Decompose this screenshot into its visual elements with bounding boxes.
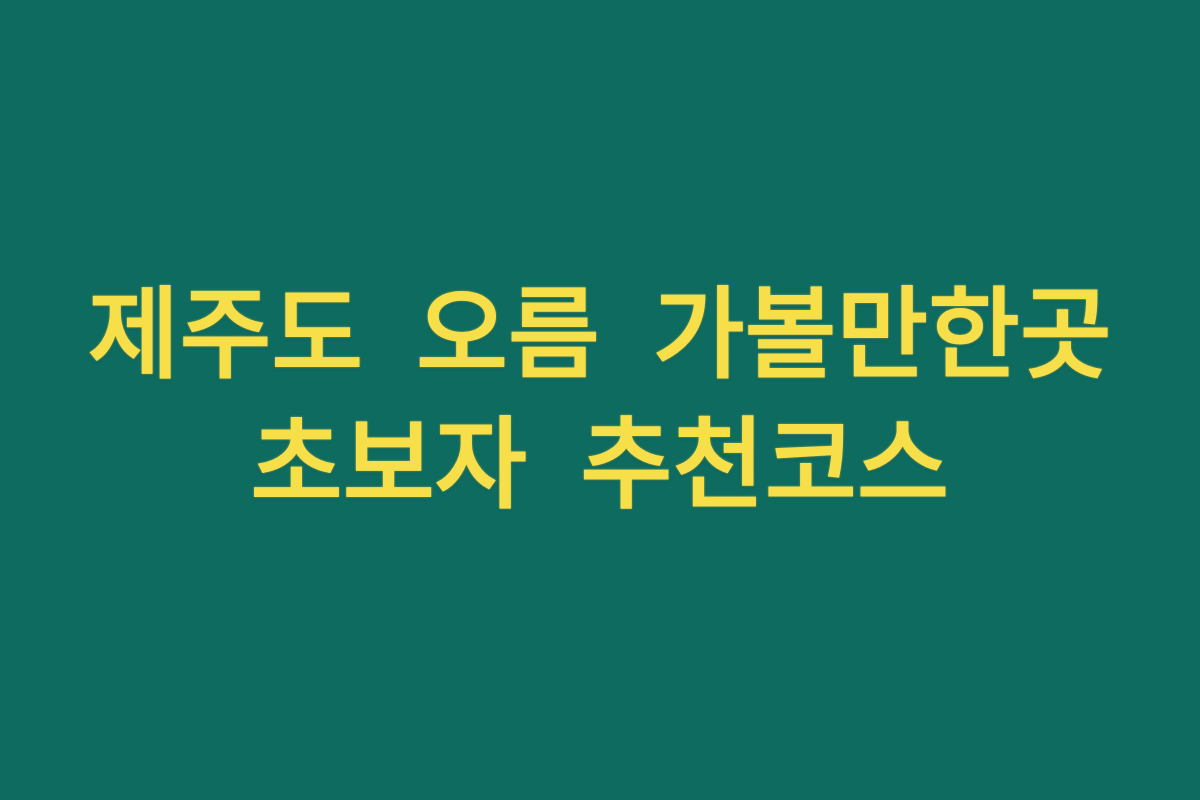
thumbnail-canvas: 제주도 오름 가볼만한곳 초보자 추천코스 xyxy=(0,0,1200,800)
title-line-1: 제주도 오름 가볼만한곳 xyxy=(88,286,1112,385)
title-block: 제주도 오름 가볼만한곳 초보자 추천코스 xyxy=(0,286,1200,515)
title-line-2: 초보자 추천코스 xyxy=(251,415,950,515)
